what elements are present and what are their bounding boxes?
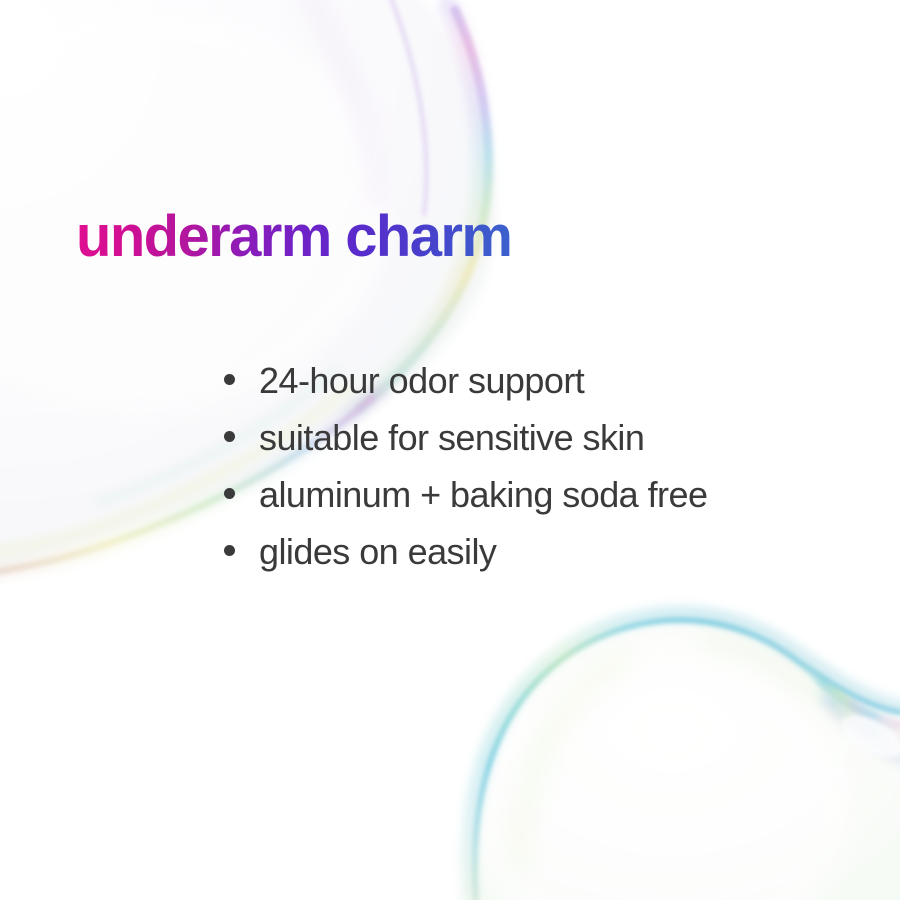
feature-list: 24-hour odor support suitable for sensit… [224,352,707,580]
feature-label: suitable for sensitive skin [259,409,644,466]
list-item: glides on easily [224,523,707,580]
product-feature-card: underarm charm 24-hour odor support suit… [0,0,900,900]
bottom-right-bubble [465,607,900,900]
list-item: aluminum + baking soda free [224,466,707,523]
list-item: suitable for sensitive skin [224,409,707,466]
feature-label: glides on easily [259,523,496,580]
bullet-dot-icon [224,488,235,499]
bullet-dot-icon [224,374,235,385]
feature-label: 24-hour odor support [259,352,584,409]
bullet-dot-icon [224,545,235,556]
feature-label: aluminum + baking soda free [259,466,707,523]
bullet-dot-icon [224,431,235,442]
list-item: 24-hour odor support [224,352,707,409]
page-title: underarm charm [76,206,511,269]
